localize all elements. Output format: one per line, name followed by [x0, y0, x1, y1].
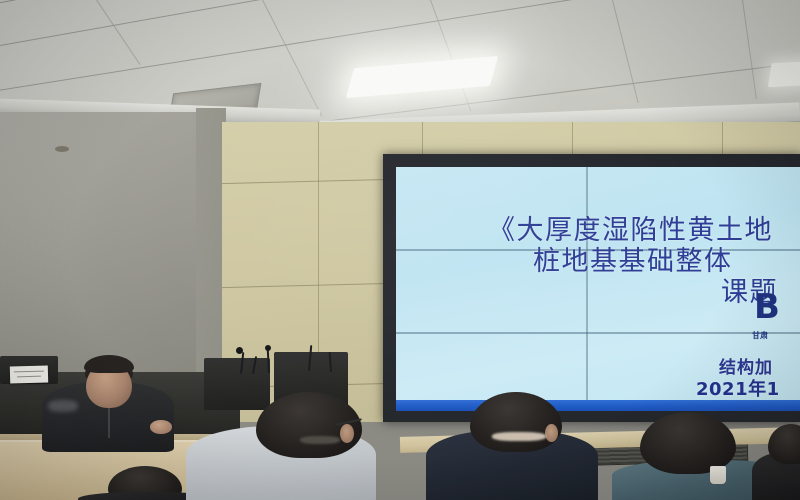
ceiling-grid-runner	[612, 0, 639, 103]
desk-name-placard	[10, 366, 48, 384]
placard-text-line	[17, 376, 41, 378]
ceiling-grid-runner	[742, 0, 757, 99]
ceiling-grid-line	[0, 0, 800, 11]
attendee-head	[470, 392, 562, 452]
presenter-hand	[150, 420, 172, 434]
screen-tile-seam	[586, 167, 588, 411]
screen-taskbar[interactable]	[396, 400, 800, 411]
slide-title-line-2: 桩地基基础整体	[533, 239, 733, 278]
placard-text-line	[14, 371, 44, 373]
attendee-head	[640, 412, 736, 474]
attendee-collar	[300, 436, 340, 444]
org-logo-caption: 甘肃	[752, 330, 768, 341]
microphone-head	[236, 347, 243, 354]
paper-cup	[710, 466, 726, 484]
ceiling-light-panel	[346, 56, 498, 98]
attendee-ear	[340, 424, 354, 443]
slide-date-line: 2021年1	[696, 375, 780, 401]
ceiling-grid-runner	[262, 0, 322, 116]
org-logo: B	[754, 291, 779, 323]
ceiling-grid-runner	[96, 0, 140, 65]
attendee-collar	[492, 432, 546, 441]
jacket-highlight	[48, 400, 78, 412]
monitor-unit	[204, 358, 270, 410]
conference-room-scene: 《大厚度湿陷性黄土地 桩地基基础整体 课题 B 甘肃 结构加 2021年1	[0, 0, 800, 500]
screen-tile-seam	[396, 332, 800, 334]
presentation-screen[interactable]: 《大厚度湿陷性黄土地 桩地基基础整体 课题 B 甘肃 结构加 2021年1	[396, 167, 800, 411]
ceiling-light-panel	[768, 61, 800, 87]
microphone-head	[265, 345, 271, 351]
wall-fixture	[55, 146, 69, 152]
attendee-ear	[545, 424, 558, 442]
